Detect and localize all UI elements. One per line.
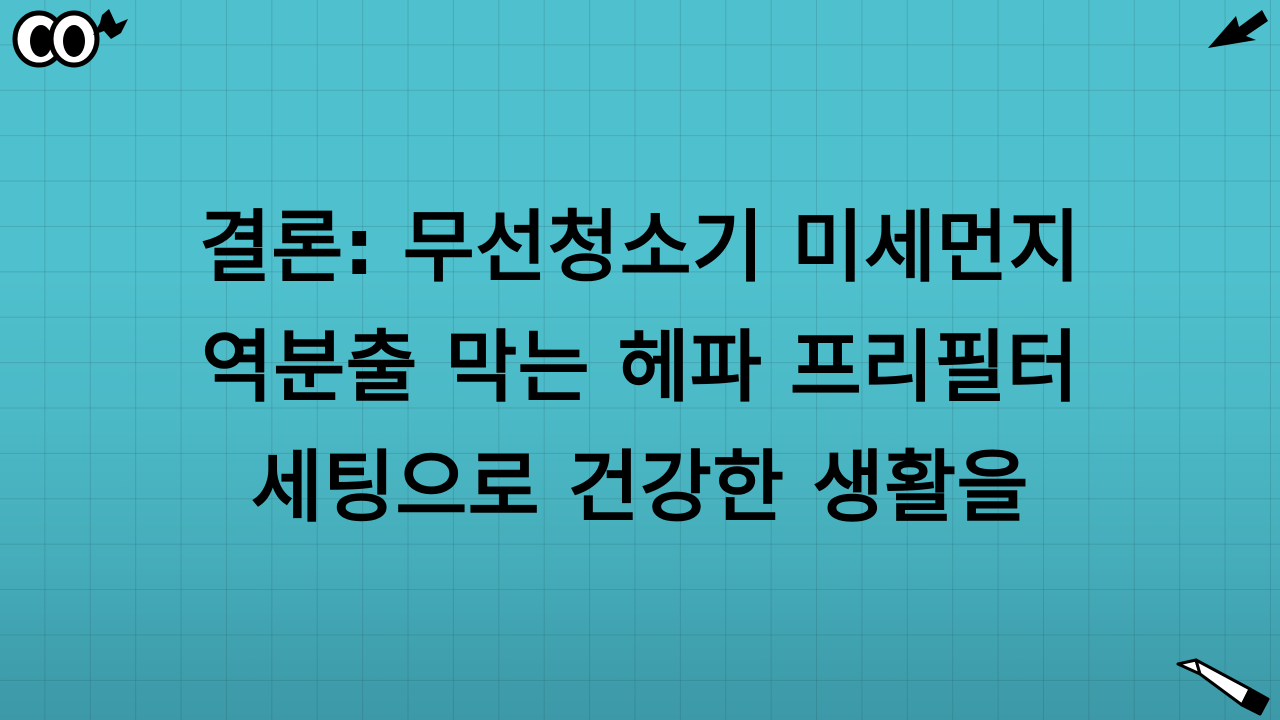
page-title: 결론: 무선청소기 미세먼지 역분출 막는 헤파 프리필터 세팅으로 건강한 생… [0, 188, 1280, 548]
pencil-icon [1172, 648, 1276, 716]
headline-line-3: 세팅으로 건강한 생활을 [0, 428, 1280, 548]
thumbnail-canvas: 결론: 무선청소기 미세먼지 역분출 막는 헤파 프리필터 세팅으로 건강한 생… [0, 0, 1280, 720]
arrow-down-left-icon [1206, 8, 1268, 56]
headline-line-1: 결론: 무선청소기 미세먼지 [0, 188, 1280, 308]
eyes-sticker-group [8, 6, 128, 70]
googly-eyes-icon [15, 13, 97, 65]
headline-line-2: 역분출 막는 헤파 프리필터 [0, 308, 1280, 428]
